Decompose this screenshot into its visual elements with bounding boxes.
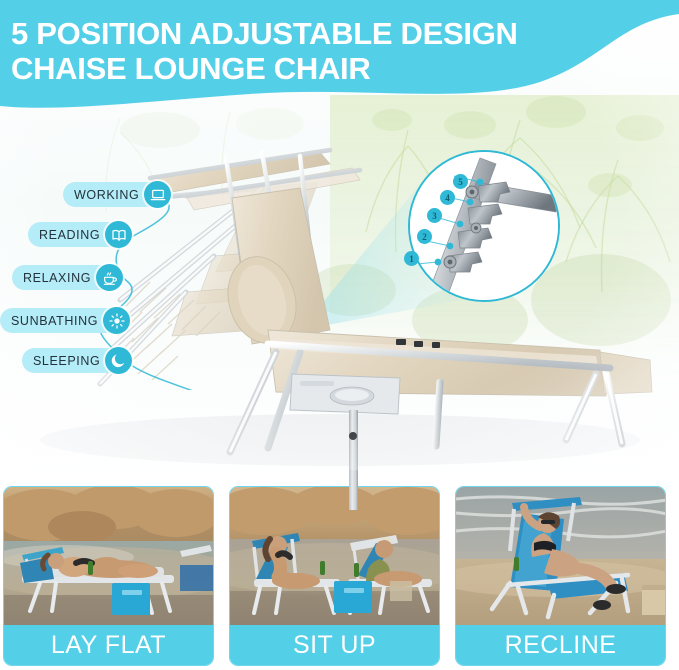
feature-label-relaxing: RELAXING (23, 271, 91, 285)
magnifier-lens (408, 150, 560, 302)
feature-pill-group: WORKING READING RELAXI (0, 160, 300, 380)
position-badge-4: 4 (440, 190, 455, 205)
feature-pill-reading[interactable]: READING (28, 222, 130, 247)
magnifier-contents (410, 152, 558, 300)
feature-label-reading: READING (39, 228, 100, 242)
position-badge-5: 5 (453, 174, 468, 189)
panel-caption-lay-flat: LAY FLAT (4, 625, 213, 665)
feature-pill-sunbathing[interactable]: SUNBATHING (0, 308, 128, 333)
panel-photo-recline (456, 487, 665, 627)
umbrella-pole-overlay (349, 470, 358, 510)
hero-scene: WORKING READING RELAXI (0, 0, 679, 482)
feature-label-sunbathing: SUNBATHING (11, 314, 98, 328)
feature-pill-relaxing[interactable]: RELAXING (12, 265, 121, 290)
product-infographic: WORKING READING RELAXI (0, 0, 679, 670)
position-badge-2: 2 (417, 229, 432, 244)
moon-z-icon: z (105, 347, 132, 374)
panel-caption-sit-up: SIT UP (230, 625, 439, 665)
panel-caption-recline: RECLINE (456, 625, 665, 665)
position-panel-group: LAY FLAT (0, 482, 679, 670)
panel-photo-lay-flat (4, 487, 213, 627)
coffee-cup-icon (96, 264, 123, 291)
svg-text:z: z (120, 356, 123, 362)
panel-recline[interactable]: RECLINE (455, 486, 666, 666)
panel-lay-flat[interactable]: LAY FLAT (3, 486, 214, 666)
feature-pill-sleeping[interactable]: SLEEPING z (22, 348, 130, 373)
feature-pill-working[interactable]: WORKING (63, 182, 169, 207)
book-icon (105, 221, 132, 248)
feature-label-sleeping: SLEEPING (33, 354, 100, 368)
position-badge-1: 1 (404, 251, 419, 266)
panel-sit-up[interactable]: SIT UP (229, 486, 440, 666)
position-badge-3: 3 (427, 208, 442, 223)
sun-icon (103, 307, 130, 334)
feature-label-working: WORKING (74, 188, 139, 202)
panel-photo-sit-up (230, 487, 439, 627)
laptop-icon (144, 181, 171, 208)
position-detail-magnifier: 1 2 3 4 5 (408, 150, 560, 302)
